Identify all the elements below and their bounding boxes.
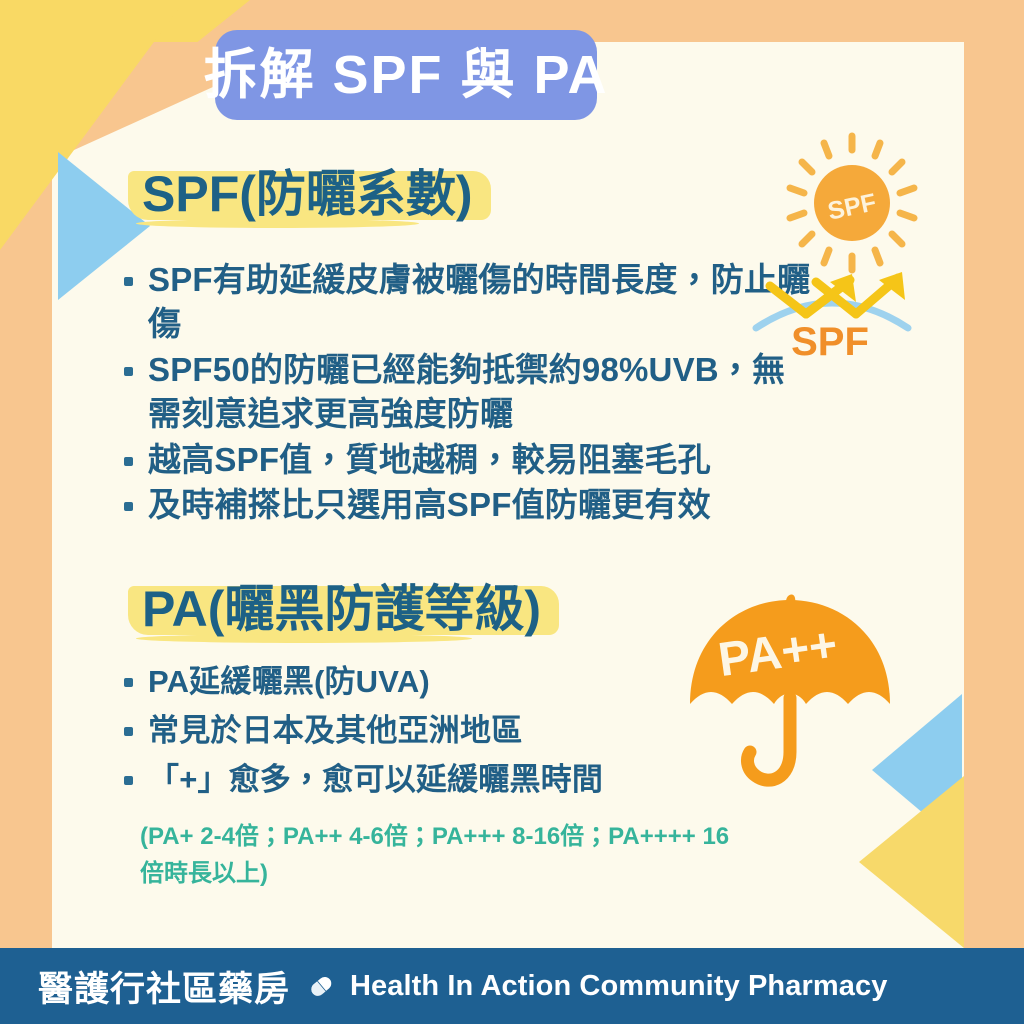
bullet-list-spf: SPF有助延緩皮膚被曬傷的時間長度，防止曬傷 SPF50的防曬已經能夠抵禦約98…	[118, 258, 818, 529]
list-item: PA延緩曬黑(防UVA)	[118, 658, 758, 705]
pill-icon	[306, 971, 336, 1001]
spf-illustration: SPF SPF	[748, 128, 963, 358]
bullet-list-pa: PA延緩曬黑(防UVA) 常見於日本及其他亞洲地區 「+」愈多，愈可以延緩曬黑時…	[118, 658, 758, 805]
list-item: SPF50的防曬已經能夠抵禦約98%UVB，無需刻意追求更高強度防曬	[118, 348, 818, 436]
title-badge: 拆解 SPF 與 PA	[215, 30, 597, 120]
section-heading-spf: SPF(防曬系數)	[128, 163, 491, 228]
list-item: 越高SPF值，質地越稠，較易阻塞毛孔	[118, 438, 818, 482]
footer-name-en: Health In Action Community Pharmacy	[350, 970, 887, 1003]
list-item: SPF有助延緩皮膚被曬傷的時間長度，防止曬傷	[118, 258, 818, 346]
list-item: 及時補搽比只選用高SPF值防曬更有效	[118, 483, 818, 527]
infographic-poster: 拆解 SPF 與 PA SPF(防曬系數) SPF有助延緩皮膚被曬傷的時間長度，…	[0, 0, 1024, 1024]
pa-illustration: PA++	[676, 592, 906, 807]
section-heading-pa-label: PA(曬黑防護等級)	[142, 581, 541, 637]
pa-sub-note: (PA+ 2-4倍；PA++ 4-6倍；PA+++ 8-16倍；PA++++ 1…	[140, 818, 740, 892]
list-item: 常見於日本及其他亞洲地區	[118, 707, 758, 754]
page-title: 拆解 SPF 與 PA	[203, 48, 608, 102]
list-item: 「+」愈多，愈可以延緩曬黑時間	[118, 756, 758, 803]
footer-bar: 醫護行社區藥房 Health In Action Community Pharm…	[0, 948, 1024, 1024]
surface-label: SPF	[791, 320, 869, 358]
footer-name-cn: 醫護行社區藥房	[38, 961, 290, 1012]
umbrella-icon	[690, 595, 890, 781]
section-heading-spf-label: SPF(防曬系數)	[142, 166, 473, 222]
section-heading-pa: PA(曬黑防護等級)	[128, 578, 559, 643]
deco-right-orange-band	[964, 0, 1024, 948]
